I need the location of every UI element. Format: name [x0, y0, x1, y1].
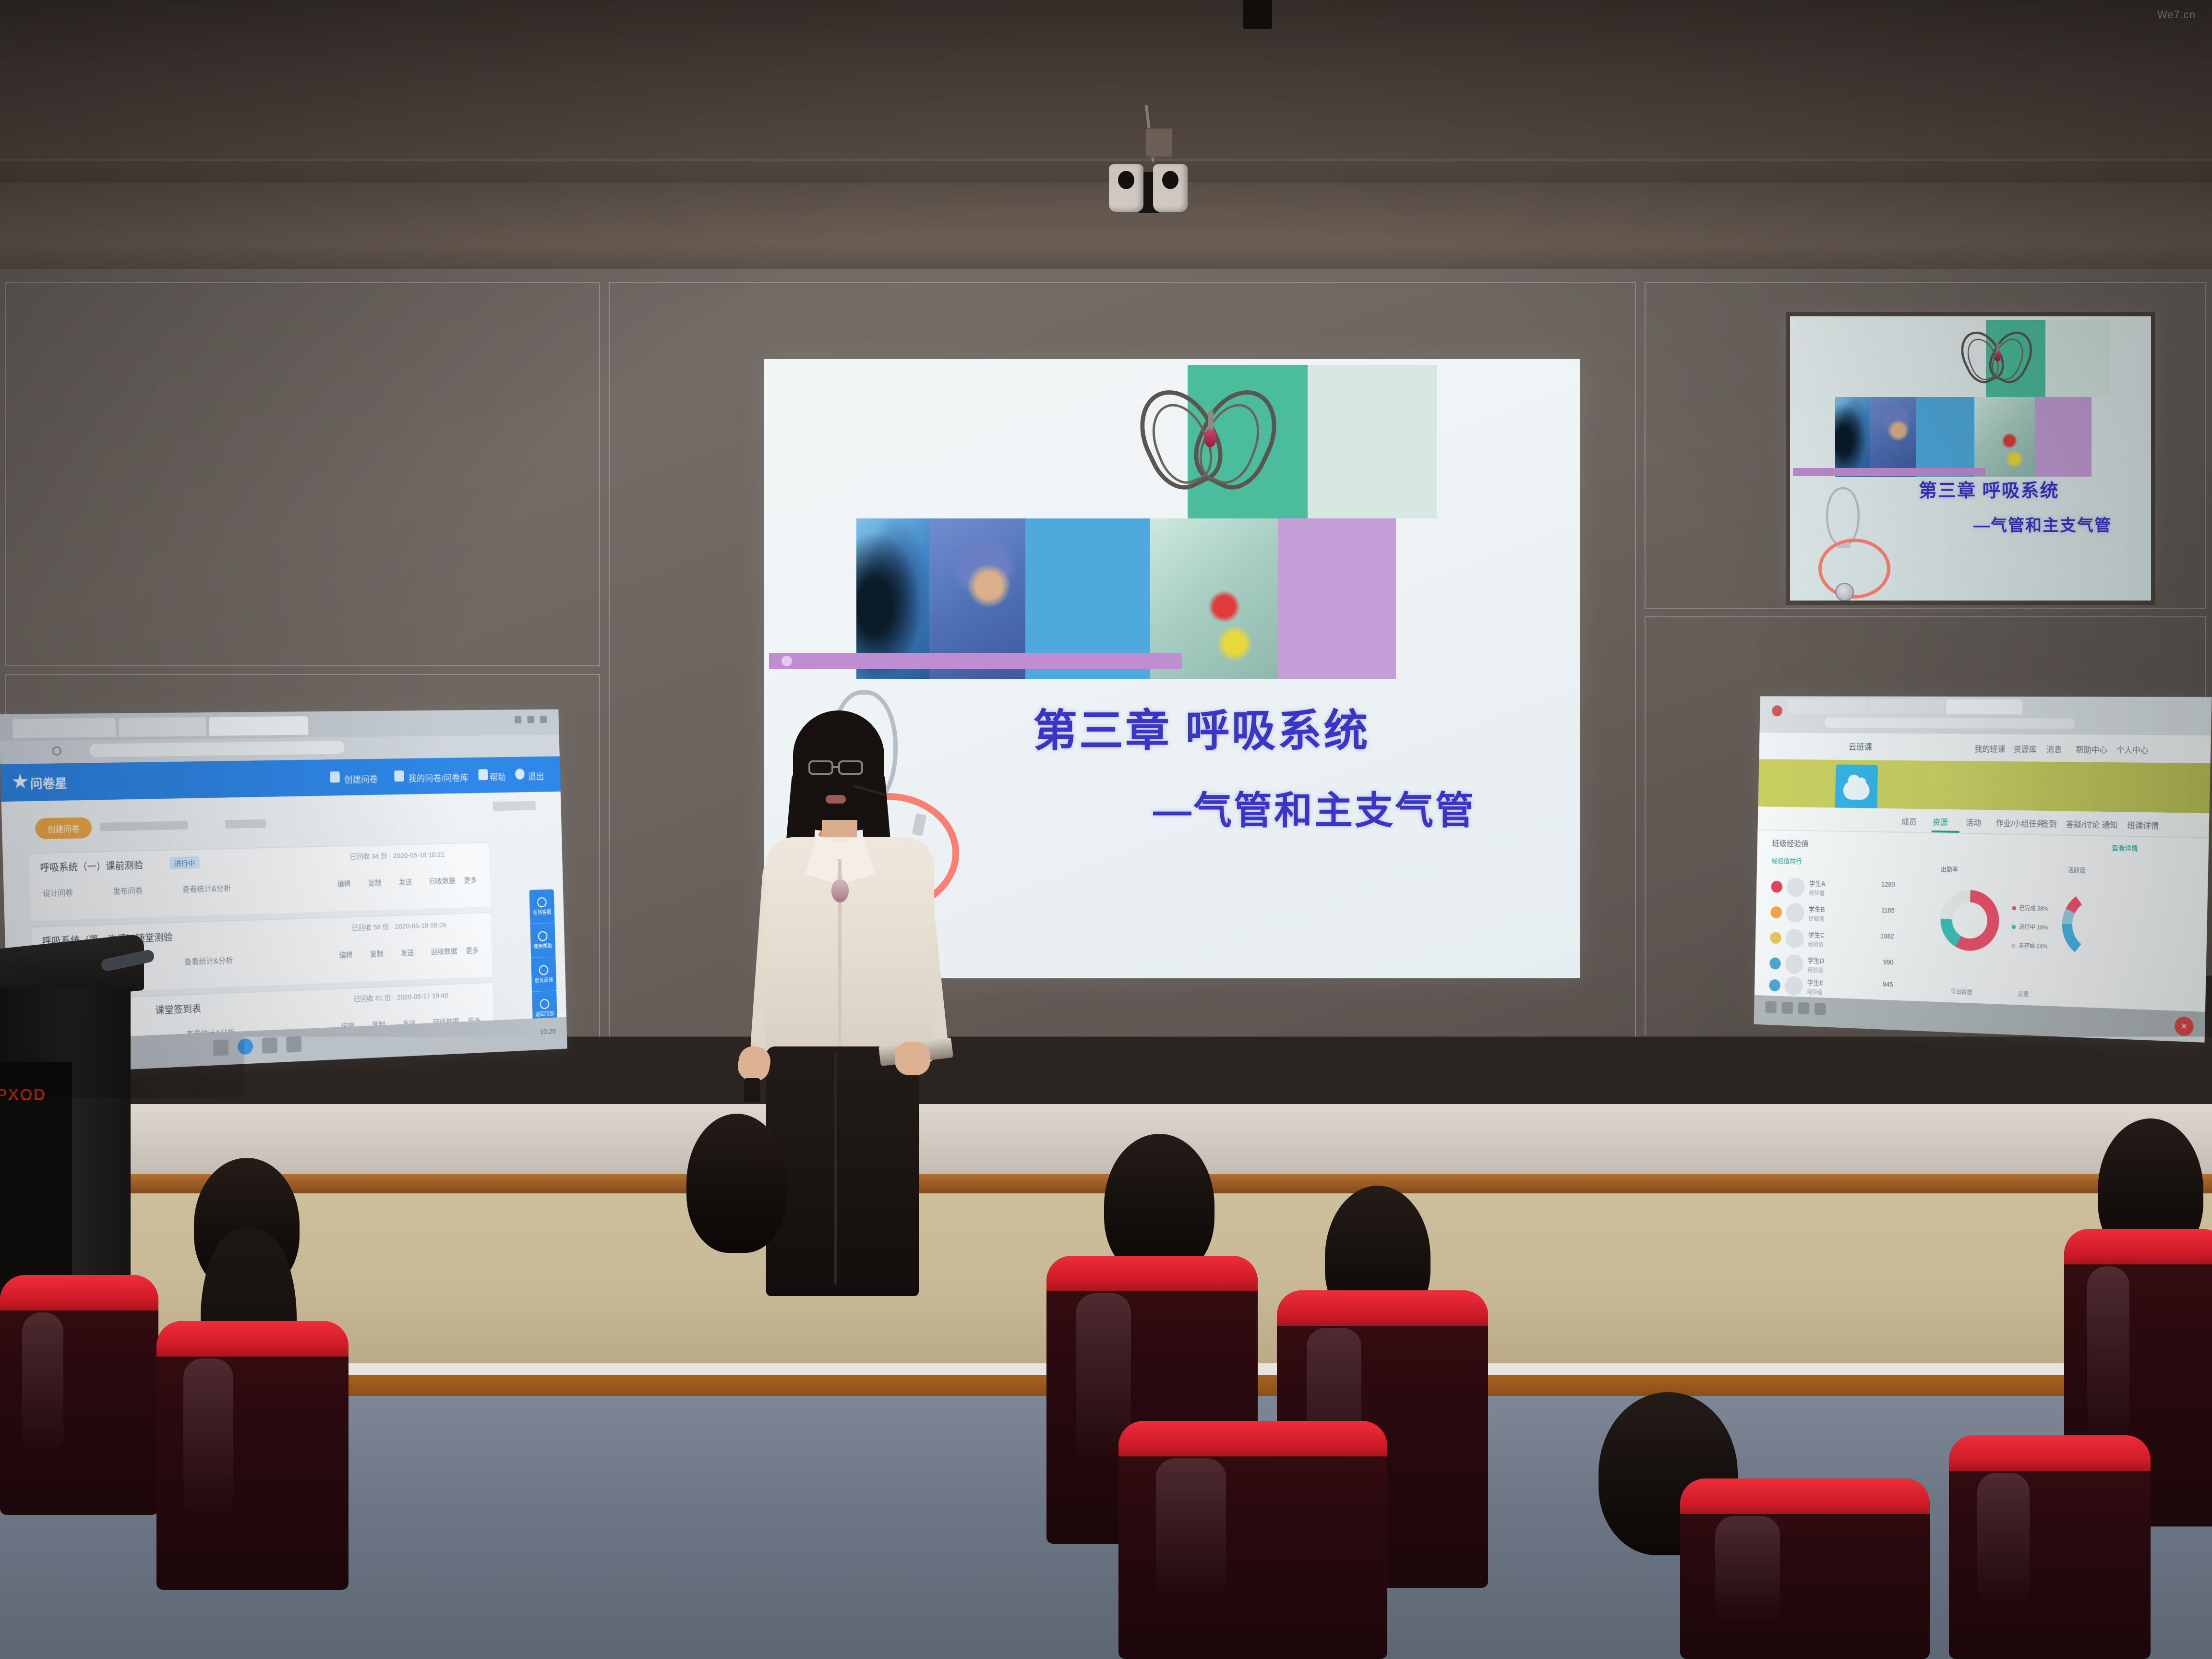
microphone-icon: [843, 801, 855, 813]
help-icon[interactable]: [478, 769, 488, 780]
survey-action[interactable]: 回收数据: [431, 946, 457, 957]
taskbar-app-icon[interactable]: [1815, 1003, 1826, 1015]
student-head: [766, 1325, 886, 1469]
mini-heart-stethoscope-icon: [1963, 328, 2000, 363]
rank-title: 经验值排行: [1771, 856, 1802, 866]
browser-tab[interactable]: [119, 717, 206, 737]
legend-dot: [2011, 944, 2016, 948]
student-sub: 经验值: [1808, 914, 1824, 923]
camera-lens-icon: [1118, 171, 1134, 189]
survey-action[interactable]: 发送: [399, 877, 412, 887]
create-survey-button[interactable]: 创建问卷: [35, 817, 92, 839]
medal-icon: [1770, 932, 1781, 944]
slide-tile-purple: [1278, 518, 1396, 679]
survey-meta: 已回收 61 份 · 2020-05-17 19:40: [353, 990, 448, 1004]
glasses-icon: [838, 760, 863, 775]
presenter-remote[interactable]: [744, 1078, 760, 1102]
taskbar-browser-icon[interactable]: [238, 1038, 253, 1055]
survey-action[interactable]: 复制: [368, 878, 382, 888]
arrow-up-icon: [540, 999, 549, 1010]
star-logo-icon: [12, 773, 29, 790]
student-name: 学生B: [1809, 904, 1825, 914]
survey-action[interactable]: 复制: [370, 949, 384, 959]
browser-tab[interactable]: [1788, 699, 1867, 714]
nav-item-0[interactable]: 创建问卷: [344, 773, 378, 786]
taskbar-start-icon[interactable]: [1765, 1001, 1777, 1013]
survey-meta: 已回收 58 份 · 2020-05-18 09:05: [351, 920, 446, 933]
chrome-logo-icon: [1772, 705, 1782, 716]
taskbar-app-icon[interactable]: [286, 1036, 302, 1052]
survey-action[interactable]: 回收数据: [429, 876, 456, 886]
status-badge: 进行中: [169, 856, 200, 869]
chair: [1118, 1421, 1387, 1659]
mouth: [826, 795, 846, 804]
rail-item-2[interactable]: 意见反馈: [531, 957, 556, 992]
topnav-item-2[interactable]: 消息: [2046, 743, 2062, 755]
pendant-necklace: [831, 879, 849, 902]
user-icon[interactable]: [394, 770, 404, 781]
survey-chip[interactable]: 设计问卷: [43, 886, 73, 899]
legend-item-1: 进行中 18%: [2019, 923, 2048, 931]
section-label: 班级经验值: [1772, 837, 1809, 849]
skirt-seam: [834, 1054, 837, 1285]
flower-icon: [781, 656, 792, 666]
list-item[interactable]: 呼吸系统（一）课前测验 进行中 设计问卷 发布问卷 查看统计&分析 编辑 复制 …: [29, 842, 491, 921]
legend-item-2: 未开始 24%: [2019, 941, 2048, 950]
watermark: We7.cn: [2157, 9, 2196, 21]
ceiling-seam: [0, 158, 2212, 161]
nav-item-1[interactable]: 我的问卷/问卷库: [408, 771, 468, 785]
medal-icon: [1771, 881, 1782, 893]
tab-details[interactable]: 班课详情: [2127, 818, 2159, 831]
right-hand: [895, 1042, 930, 1075]
survey-chip[interactable]: 查看统计&分析: [182, 882, 231, 894]
view-details-link[interactable]: 查看详情: [2112, 843, 2138, 853]
student-value: 1165: [1881, 906, 1895, 914]
student-name: 学生D: [1807, 956, 1824, 965]
camera-left: [1109, 164, 1143, 212]
rail-item-1[interactable]: 使用帮助: [530, 923, 555, 958]
wainscot: [0, 1104, 2212, 1176]
student-value: 990: [1883, 958, 1894, 966]
chair: [1680, 1479, 1930, 1659]
mini-tile-xray: [1835, 397, 1870, 477]
rail-label: 返回顶部: [535, 1010, 554, 1018]
table-row[interactable]: 学生A 经验值 1280: [1771, 874, 1898, 903]
wall-panel: [5, 282, 600, 666]
topnav-item-1[interactable]: 资源库: [2013, 743, 2037, 755]
survey-action[interactable]: 更多: [466, 945, 479, 955]
close-button[interactable]: [540, 716, 547, 723]
tab-discussion[interactable]: 答疑/讨论: [2066, 817, 2100, 830]
mini-accent-band: [1793, 468, 1985, 476]
table-row[interactable]: 学生B 经验值 1165: [1770, 900, 1897, 929]
student-name: 学生C: [1808, 930, 1825, 940]
avatar: [1786, 878, 1805, 897]
mini-tile-surgeon: [1870, 397, 1916, 477]
medal-icon: [1769, 957, 1781, 969]
chair: [1949, 1435, 2151, 1659]
survey-action[interactable]: 编辑: [339, 950, 352, 960]
close-icon[interactable]: ×: [2175, 1016, 2194, 1036]
student-value: 945: [1883, 980, 1893, 988]
browser-tab[interactable]: [1868, 699, 1944, 714]
medal-icon: [1769, 979, 1780, 992]
site-brand: 问卷星: [30, 774, 67, 792]
minimize-button[interactable]: [515, 716, 522, 723]
browser-chrome: [0, 709, 560, 764]
search-input[interactable]: [100, 821, 188, 831]
student-head: [686, 1114, 787, 1253]
maximize-button[interactable]: [527, 716, 534, 723]
browser-tabstrip: [0, 709, 559, 741]
right-projected-browser[interactable]: 云班课 我的班课 资源库 消息 帮助中心 个人中心 成员 资源 活动 作业/小组…: [1754, 696, 2212, 1042]
student-name: 学生E: [1807, 978, 1824, 987]
tab-checkin[interactable]: 签到: [2041, 817, 2057, 829]
student-sub: 经验值: [1809, 889, 1825, 897]
legend-dot: [2012, 906, 2016, 910]
back-icon[interactable]: [17, 747, 25, 755]
nav-item-2[interactable]: 帮助: [490, 770, 506, 783]
student-sub: 经验值: [1807, 966, 1823, 974]
chair: [156, 1321, 349, 1590]
rail-label: 使用帮助: [534, 942, 553, 950]
student-name: 学生A: [1809, 879, 1826, 889]
completion-donut-chart: [1940, 890, 1999, 952]
legend-item-0: 已完成 58%: [2020, 904, 2049, 913]
survey-action[interactable]: 发送: [401, 948, 414, 958]
refresh-button[interactable]: [493, 801, 536, 811]
active-tab-underline: [1932, 830, 1960, 833]
taskbar-start-icon[interactable]: [213, 1039, 229, 1056]
mini-tile-pale-teal: [2045, 320, 2110, 397]
dashboard-content: 班级经验值 经验值排行 查看详情 学生A 经验值 1280 学生B 经验值 11…: [1755, 830, 2209, 1011]
reload-icon[interactable]: [52, 746, 61, 756]
wall-outlet-plate: [1145, 128, 1173, 157]
topnav-item-4[interactable]: 个人中心: [2116, 744, 2149, 756]
camera-right: [1153, 164, 1188, 212]
glasses-bridge: [833, 766, 840, 768]
mini-tile-purple: [2035, 397, 2092, 477]
logout-icon[interactable]: [515, 769, 525, 780]
mini-slide-title-line2: —气管和主支气管: [1973, 512, 2112, 536]
course-banner: [1758, 759, 2210, 813]
slide-title-line2: —气管和主支气管: [1153, 780, 1476, 835]
cloud-icon: [1843, 781, 1870, 800]
slide-accent-band: [769, 653, 1182, 669]
mini-slide-title-line1: 第三章 呼吸系统: [1919, 476, 2059, 502]
survey-action[interactable]: 更多: [464, 875, 477, 885]
home-icon[interactable]: [330, 771, 340, 782]
avatar: [1785, 928, 1804, 948]
student-sub: 经验值: [1808, 940, 1824, 949]
gauge-label: 活跃度: [2068, 865, 2086, 875]
browser-tab-active[interactable]: [209, 716, 309, 736]
taskbar-app-icon[interactable]: [1798, 1002, 1809, 1015]
survey-chip[interactable]: 发布问卷: [113, 884, 143, 896]
chair: [0, 1275, 158, 1515]
student-sub: 经验值: [1807, 988, 1823, 996]
filter-dropdown[interactable]: [225, 819, 266, 829]
tab-activities[interactable]: 活动: [1966, 816, 1981, 828]
browser-tab[interactable]: [12, 718, 117, 738]
tab-notice[interactable]: 通知: [2102, 818, 2118, 830]
taskbar-app-icon[interactable]: [262, 1037, 277, 1054]
activity-gauge-chart: [2061, 889, 2132, 962]
site-brand: 云班课: [1848, 741, 1872, 753]
mini-stethoscope-icon: [1812, 487, 1867, 542]
browser-chrome: [1759, 696, 2212, 735]
rail-label: 意见反馈: [534, 976, 553, 984]
mini-tile-instruments: [1974, 397, 2035, 477]
survey-title: 课堂签到表: [155, 1001, 201, 1017]
address-bar[interactable]: [89, 741, 344, 757]
chair: [552, 1406, 782, 1659]
avatar: [1785, 954, 1803, 974]
lock-icon: [75, 746, 83, 755]
tab-members[interactable]: 成员: [1901, 815, 1917, 827]
side-help-rail[interactable]: 在线客服 使用帮助 意见反馈 返回顶部: [529, 889, 558, 1025]
browser-tab-active[interactable]: [1946, 699, 2023, 715]
site-top-nav: 云班课 我的班课 资源库 消息 帮助中心 个人中心: [1759, 733, 2211, 763]
donut-label: 出勤率: [1941, 864, 1959, 873]
survey-action[interactable]: 编辑: [337, 878, 350, 889]
podium-brand-logo: PXOD: [0, 1086, 46, 1105]
footer-link-1[interactable]: 导出数据: [1951, 987, 1972, 996]
wall-camera-icon: [1109, 153, 1193, 215]
feedback-icon: [539, 965, 549, 975]
legend-dot: [2012, 925, 2016, 929]
topnav-item-0[interactable]: 我的班课: [1974, 743, 2006, 755]
rail-label: 在线客服: [533, 908, 552, 916]
topnav-item-3[interactable]: 帮助中心: [2076, 743, 2107, 755]
camera-lens-icon: [1162, 171, 1178, 189]
avatar: [1786, 903, 1804, 923]
heart-stethoscope-icon: [1143, 383, 1283, 508]
headset-icon: [537, 897, 547, 907]
secondary-projected-slide: 第三章 呼吸系统 —气管和主支气管: [1786, 312, 2155, 605]
nav-item-3[interactable]: 退出: [528, 770, 544, 782]
tab-resources[interactable]: 资源: [1933, 816, 1948, 828]
address-bar[interactable]: [1825, 718, 2076, 729]
table-row[interactable]: 学生C 经验值 1082: [1770, 926, 1897, 955]
slide-tile-pale-teal: [1308, 365, 1437, 518]
footer-link-2[interactable]: 设置: [2018, 990, 2029, 998]
survey-title: 呼吸系统（一）课前测验: [40, 858, 143, 874]
taskbar-app-icon[interactable]: [1781, 1001, 1793, 1014]
glasses-icon: [808, 760, 833, 775]
mini-tile-blue: [1916, 397, 1974, 477]
question-icon: [538, 931, 548, 941]
survey-meta: 已回收 34 份 · 2020-05-18 10:21: [350, 850, 445, 862]
student-value: 1280: [1881, 880, 1895, 888]
rail-item-0[interactable]: 在线客服: [529, 889, 555, 924]
slide-title-line1: 第三章 呼吸系统: [1033, 695, 1370, 759]
lecture-hall-photo: 第三章 呼吸系统 —气管和主支气管: [0, 0, 2212, 1659]
avatar: [1784, 976, 1803, 996]
ceiling-vent: [1243, 0, 1272, 29]
taskbar-clock: 10:26: [540, 1027, 556, 1036]
tab-homework[interactable]: 作业/小组任务: [1996, 817, 2044, 829]
medal-icon: [1770, 906, 1782, 918]
survey-chip[interactable]: 查看统计&分析: [184, 954, 233, 967]
student-value: 1082: [1880, 932, 1894, 940]
